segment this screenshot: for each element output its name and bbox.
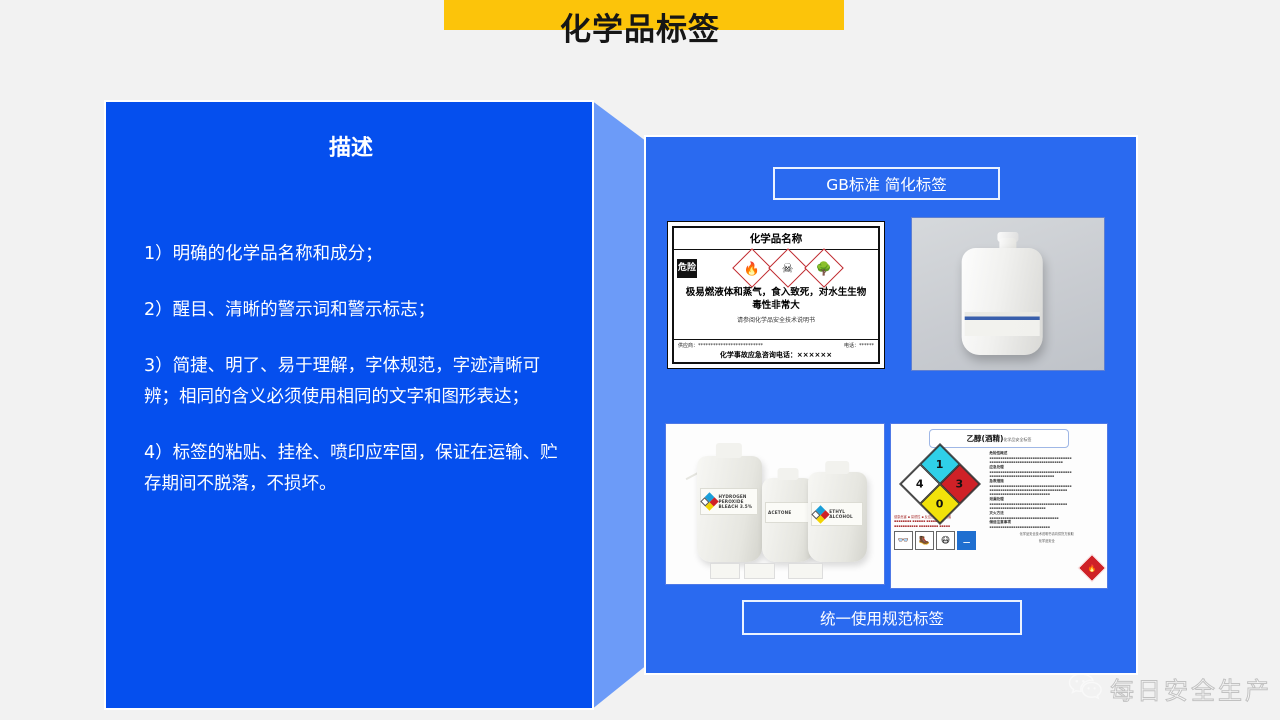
bottle-photo [911,217,1105,371]
label-footer-note: 化学品安全技术说明书请向供货方索取 [989,531,1104,536]
bottle-label: HYDROGEN PEROXIDE BLEACH 3.5% [700,488,758,515]
bottle-label: ACETONE [765,502,811,524]
transport-hazard-diamond-icon: 🔥 [1078,554,1106,582]
boots-icon: 🥾 [915,531,934,550]
description-heading: 描述 [106,130,596,162]
watermark-text: 每日安全生产 [1110,671,1272,706]
bottle-acetone: ACETONE [762,478,814,561]
section-body: ▪▪▪▪▪▪▪▪▪▪▪▪▪▪▪▪▪▪▪▪▪▪▪▪▪▪▪▪▪▪▪▪▪▪▪▪▪▪▪▪… [989,484,1104,497]
list-item: 4）标签的粘贴、挂栓、喷印应牢固，保证在运输、贮存期间不脱落，不损坏。 [144,438,574,500]
bottle-label-text: ACETONE [768,510,791,515]
nfpa-diamond-icon [812,505,830,523]
bottle-neck [778,468,799,480]
signal-word-danger: 危险 [677,259,697,278]
mask-icon: 😷 [936,531,955,550]
label-sticker [788,563,823,579]
list-item: 3）简捷、明了、易于理解，字体规范，字迹清晰可辨；相同的含义必须使用相同的文字和… [144,351,574,413]
panel-3d-side-face [591,100,644,710]
label-examples-panel: GB标准 简化标签 化学品名称 危险 🔥 ☠ 🌳 极易燃液体和蒸气，食入致死，对… [644,135,1138,675]
page-title: 化学品标签 [0,4,1280,49]
ethanol-safety-label-image: 乙醇(酒精)化学品安全标签 1 3 4 0 健康危害 ▪ 易燃性 ▪ 反应性 ▪… [890,423,1108,589]
phone-field: 电话：****** [844,342,874,349]
sds-note: 请参阅化学品安全技术说明书 [674,312,878,326]
nfpa-704-diamond: 1 3 4 0 [899,443,981,525]
section-body: ▪▪▪▪▪▪▪▪▪▪▪▪▪▪▪▪▪▪▪▪▪▪▪▪▪▪▪▪▪▪▪▪▪▪▪▪▪▪▪▪… [989,502,1104,511]
supplier-field: 供应商：************************** [678,342,763,349]
hazard-statement: 极易燃液体和蒸气，食入致死，对水生生物毒性非常大 [674,282,878,312]
panel-front-face: 描述 1）明确的化学品名称和成分； 2）醒目、清晰的警示词和警示标志； 3）简捷… [104,100,594,710]
description-arrow-panel: 描述 1）明确的化学品名称和成分； 2）醒目、清晰的警示词和警示标志； 3）简捷… [104,100,644,710]
label-publisher: 化学品安全 [989,538,1104,543]
section-body: ▪▪▪▪▪▪▪▪▪▪▪▪▪▪▪▪▪▪▪▪▪▪▪▪▪▪▪▪▪▪▪▪▪▪▪▪▪▪▪▪… [989,470,1104,479]
label-sticker [710,563,740,579]
bottle-neck [825,461,849,474]
gb-simplified-label-image: 化学品名称 危险 🔥 ☠ 🌳 极易燃液体和蒸气，食入致死，对水生生物毒性非常大 … [667,221,885,369]
chemical-product-name: 化学品名称 [674,228,878,250]
bottle-label: ETHYL ALCOHOL [811,502,863,525]
pill-unified-label: 统一使用规范标签 [742,600,1022,635]
pill-gb-standard-text: GB标准 简化标签 [826,173,947,195]
bottle-neck [716,443,742,458]
goggles-icon: 👓 [894,531,913,550]
section-body: ▪▪▪▪▪▪▪▪▪▪▪▪▪▪▪▪▪▪▪▪▪▪▪▪▪▪▪▪▪▪▪▪▪▪▪▪▪▪▪▪… [989,456,1104,465]
bottle-label [965,312,1039,335]
bottle-body [962,248,1043,354]
emergency-phone: 化学事故应急咨询电话：×××××× [678,350,874,360]
description-list: 1）明确的化学品名称和成分； 2）醒目、清晰的警示词和警示标志； 3）简捷、明了… [144,239,574,500]
wechat-icon [1068,672,1102,705]
ethanol-label-right-column: 危险性概述 ▪▪▪▪▪▪▪▪▪▪▪▪▪▪▪▪▪▪▪▪▪▪▪▪▪▪▪▪▪▪▪▪▪▪… [989,451,1104,550]
bottle-hydrogen-peroxide: HYDROGEN PEROXIDE BLEACH 3.5% [697,456,762,562]
watermark: 每日安全生产 [1068,671,1272,706]
ppe-pictogram-row: 👓 🥾 😷 ⚊ [894,531,986,550]
pill-unified-label-text: 统一使用规范标签 [820,607,944,629]
bottle-label-text: ETHYL ALCOHOL [829,509,860,519]
ethanol-label-title: 乙醇(酒精)化学品安全标签 [929,429,1070,448]
list-item: 2）醒目、清晰的警示词和警示标志； [144,295,574,326]
bottle-ethyl-alcohol: ETHYL ALCOHOL [808,472,867,562]
nfpa-diamond-icon [701,492,719,510]
bottle-label-text: HYDROGEN PEROXIDE BLEACH 3.5% [718,494,755,509]
list-item: 1）明确的化学品名称和成分； [144,239,574,270]
three-bottles-photo: HYDROGEN PEROXIDE BLEACH 3.5% ACETONE ET… [665,423,885,585]
section-body: ▪▪▪▪▪▪▪▪▪▪▪▪▪▪▪▪▪▪▪▪▪▪▪▪▪▪▪▪ [989,525,1104,529]
label-sticker [744,563,774,579]
ethanol-label-left-column: 1 3 4 0 健康危害 ▪ 易燃性 ▪ 反应性 ▪ 特殊危害 ▪▪▪▪▪▪▪▪… [894,451,986,550]
respirator-icon: ⚊ [957,531,976,550]
pill-gb-standard-label: GB标准 简化标签 [773,167,1000,200]
